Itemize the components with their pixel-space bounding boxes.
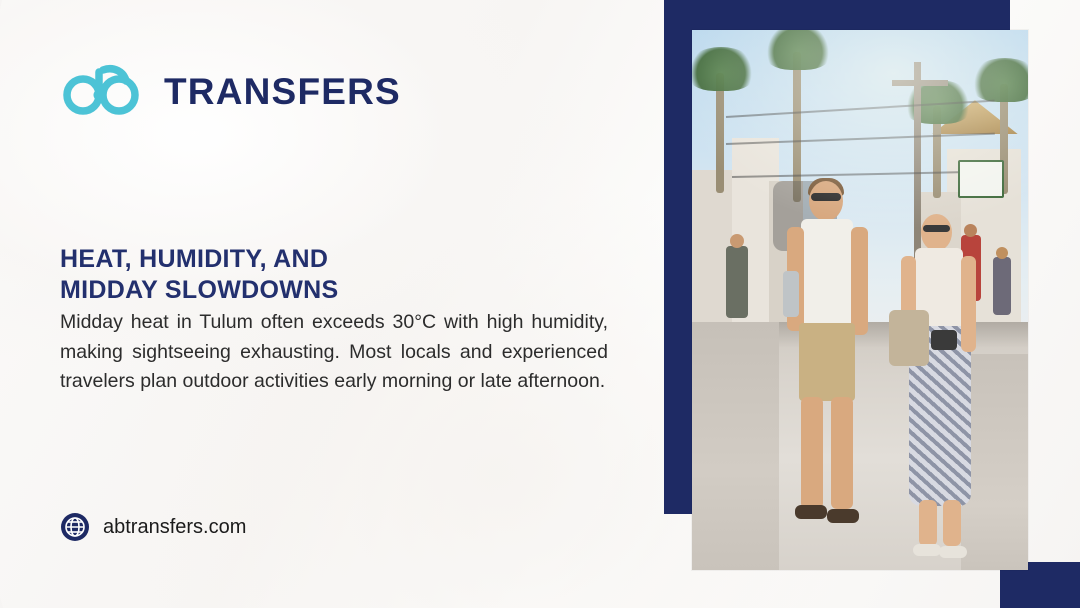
photo-sandal — [795, 505, 827, 519]
website-text: abtransfers.com — [103, 516, 246, 539]
photo-palm-tree — [793, 52, 801, 202]
headline-line-2: MIDDAY SLOWDOWNS — [60, 275, 620, 306]
photo-arm — [851, 227, 868, 335]
photo-leg — [919, 500, 937, 546]
photo-street-sign — [958, 160, 1004, 198]
photo-leg — [801, 397, 823, 509]
photo-shoulder-bag — [889, 310, 929, 366]
photo-woman-walking — [887, 214, 991, 564]
photo-water-bottle — [783, 271, 799, 317]
photo-sandal — [939, 546, 967, 558]
footer: abtransfers.com — [60, 512, 246, 542]
photo-sidewalk-left — [692, 322, 779, 570]
slide: TRANSFERS HEAT, HUMIDITY, AND MIDDAY SLO… — [0, 0, 1080, 608]
photo-arm — [961, 256, 976, 352]
photo-tank-top — [801, 219, 853, 329]
photo-sunglasses — [811, 193, 841, 201]
photo-sandal — [827, 509, 859, 523]
page-title: HEAT, HUMIDITY, AND MIDDAY SLOWDOWNS — [60, 244, 620, 305]
brand-wordmark: TRANSFERS — [164, 73, 401, 110]
photo-palm-tree — [716, 73, 724, 193]
photo-shorts — [799, 323, 855, 401]
photo-palm-tree — [933, 106, 941, 198]
photo-sunglasses — [923, 225, 950, 232]
photo-camera — [931, 330, 957, 350]
photo-man-walking — [773, 181, 881, 561]
photo-leg — [943, 500, 961, 546]
body-paragraph: Midday heat in Tulum often exceeds 30°C … — [60, 308, 608, 397]
photo-sandal — [913, 544, 941, 556]
hero-photo — [692, 30, 1028, 570]
photo-background-person — [993, 257, 1011, 315]
globe-icon — [60, 512, 90, 542]
ab-monogram-icon — [62, 64, 148, 118]
brand-logo: TRANSFERS — [62, 64, 401, 118]
photo-head — [809, 181, 843, 221]
headline-line-1: HEAT, HUMIDITY, AND — [60, 244, 620, 275]
photo-background-person — [726, 246, 748, 318]
photo-head — [921, 214, 952, 251]
photo-leg — [831, 397, 853, 509]
